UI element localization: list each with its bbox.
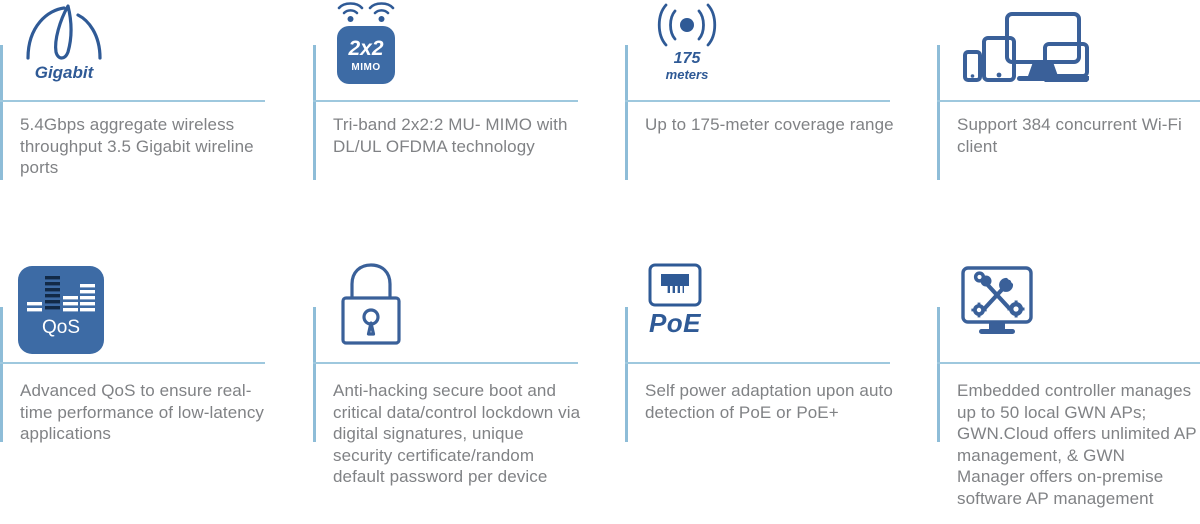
- feature-card-gigabit: Gigabit 5.4Gbps aggregate wireless throu…: [0, 0, 300, 210]
- card-rule-horizontal: [625, 362, 890, 364]
- feature-description: Advanced QoS to ensure real-time perform…: [20, 380, 272, 445]
- mimo-badge-big-label: 2x2: [348, 38, 383, 59]
- qos-equalizer-icon-wrap: QoS: [18, 266, 104, 361]
- feature-card-mimo: 2x2 MIMO Tri-band 2x2:2 MU- MIMO with DL…: [313, 0, 613, 210]
- ethernet-poe-icon: [647, 262, 703, 308]
- card-rule-horizontal: [625, 100, 890, 102]
- card-rule-horizontal: [0, 362, 265, 364]
- feature-card-qos: QoS Advanced QoS to ensure real-time per…: [0, 262, 300, 524]
- mimo-badge: 2x2 MIMO: [337, 26, 395, 84]
- card-rule-vertical: [0, 45, 3, 180]
- qos-badge-label: QoS: [42, 318, 80, 337]
- feature-description: Self power adaptation upon auto detectio…: [645, 380, 903, 423]
- padlock-security-icon-wrap: [335, 262, 407, 357]
- qos-equalizer-icon: QoS: [18, 266, 104, 354]
- multi-device-clients-icon-wrap: [959, 8, 1089, 103]
- card-rule-vertical: [937, 45, 940, 180]
- feature-card-controller: Embedded controller manages up to 50 loc…: [937, 262, 1200, 524]
- equalizer-bars-icon: [25, 274, 97, 316]
- feature-description: Anti-hacking secure boot and critical da…: [333, 380, 583, 488]
- card-rule-horizontal: [0, 100, 265, 102]
- poe-icon-label: PoE: [649, 310, 701, 337]
- feature-card-poe: PoE Self power adaptation upon auto dete…: [625, 262, 925, 524]
- padlock-security-icon: [335, 262, 407, 346]
- multi-device-clients-icon: [959, 8, 1089, 86]
- feature-description: 5.4Gbps aggregate wireless throughput 3.…: [20, 114, 272, 179]
- card-rule-vertical: [937, 307, 940, 442]
- gigabit-speed-icon: [18, 0, 110, 62]
- card-rule-vertical: [313, 45, 316, 180]
- wireless-coverage-range-icon: [647, 0, 727, 50]
- embedded-controller-icon: [959, 264, 1039, 340]
- card-rule-horizontal: [313, 100, 578, 102]
- feature-description: Embedded controller manages up to 50 loc…: [957, 380, 1197, 509]
- gigabit-icon-label: Gigabit: [35, 64, 94, 82]
- ethernet-poe-icon-wrap: PoE: [647, 262, 703, 357]
- feature-card-coverage: 175 meters Up to 175-meter coverage rang…: [625, 0, 925, 210]
- feature-card-security: Anti-hacking secure boot and critical da…: [313, 262, 613, 524]
- feature-grid: Gigabit 5.4Gbps aggregate wireless throu…: [0, 0, 1200, 524]
- wifi-antenna-pair-icon: [335, 0, 397, 26]
- card-rule-vertical: [625, 307, 628, 442]
- two-by-two-mimo-icon-wrap: 2x2 MIMO: [335, 0, 397, 95]
- card-rule-vertical: [0, 307, 3, 442]
- coverage-icon-label-unit: meters: [666, 68, 709, 82]
- feature-description: Support 384 concurrent Wi-Fi client: [957, 114, 1197, 157]
- card-rule-vertical: [625, 45, 628, 180]
- feature-card-clients: Support 384 concurrent Wi-Fi client: [937, 0, 1200, 210]
- mimo-badge-small-label: MIMO: [351, 62, 380, 73]
- gigabit-speed-icon-wrap: Gigabit: [18, 0, 110, 95]
- wireless-coverage-range-icon-wrap: 175 meters: [647, 0, 727, 95]
- card-rule-horizontal: [937, 362, 1200, 364]
- feature-description: Tri-band 2x2:2 MU- MIMO with DL/UL OFDMA…: [333, 114, 583, 157]
- feature-description: Up to 175-meter coverage range: [645, 114, 903, 136]
- coverage-icon-label-value: 175: [674, 51, 701, 68]
- card-rule-horizontal: [313, 362, 578, 364]
- embedded-controller-icon-wrap: [959, 264, 1039, 359]
- card-rule-vertical: [313, 307, 316, 442]
